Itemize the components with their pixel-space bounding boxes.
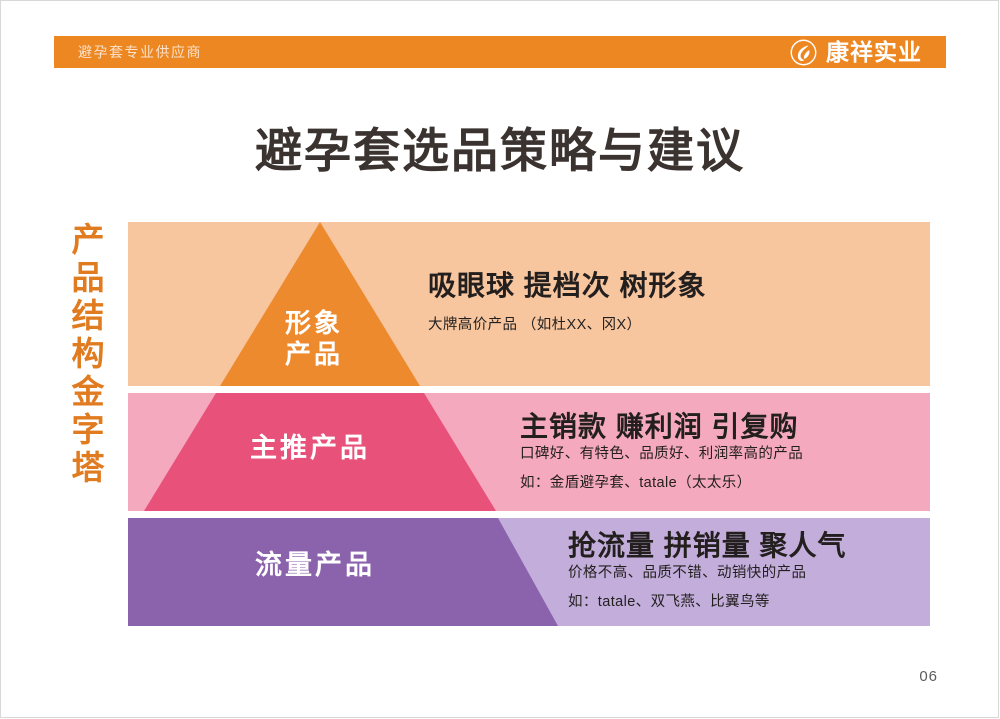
tier-headline: 主销款 赚利润 引复购: [520, 411, 803, 443]
tier-headline: 抢流量 拼销量 聚人气: [568, 530, 847, 562]
header-tagline: 避孕套专业供应商: [78, 42, 202, 62]
side-caption: 产品结构金字塔: [62, 222, 106, 488]
tier-label: 形象 产品: [260, 308, 368, 369]
slide-canvas: 避孕套专业供应商 康祥实业 避孕套选品策略与建议 产品结构金字塔 形象 产品 吸…: [0, 0, 1000, 719]
tier-sub-line: 大牌高价产品 （如杜XX、冈X）: [428, 314, 707, 336]
tier-label: 主推产品: [200, 433, 420, 465]
tier-label: 流量产品: [190, 550, 440, 582]
brand-name: 康祥实业: [826, 39, 922, 66]
pyramid-tier-image-products: 形象 产品 吸眼球 提档次 树形象 大牌高价产品 （如杜XX、冈X）: [128, 222, 930, 386]
tier-body: 抢流量 拼销量 聚人气 价格不高、品质不错、动销快的产品 如：tatale、双飞…: [568, 530, 847, 613]
tier-body: 吸眼球 提档次 树形象 大牌高价产品 （如杜XX、冈X）: [428, 270, 707, 337]
page-number: 06: [919, 668, 938, 685]
tier-headline: 吸眼球 提档次 树形象: [428, 270, 707, 302]
swirl-leaf-logo-icon: [790, 39, 817, 66]
brand-block: 康祥实业: [790, 38, 922, 66]
page-title: 避孕套选品策略与建议: [0, 112, 1000, 181]
tier-sub-line: 如：金盾避孕套、tatale（太太乐）: [520, 472, 803, 494]
tier-sub-line: 价格不高、品质不错、动销快的产品: [568, 562, 847, 584]
tier-sub-line: 如：tatale、双飞燕、比翼鸟等: [568, 591, 847, 613]
tier-sub-line: 口碑好、有特色、品质好、利润率高的产品: [520, 443, 803, 465]
pyramid-tier-main-products: 主推产品 主销款 赚利润 引复购 口碑好、有特色、品质好、利润率高的产品 如：金…: [128, 393, 930, 511]
product-structure-pyramid: 形象 产品 吸眼球 提档次 树形象 大牌高价产品 （如杜XX、冈X） 主推产品 …: [128, 222, 930, 626]
pyramid-tier-traffic-products: 流量产品 抢流量 拼销量 聚人气 价格不高、品质不错、动销快的产品 如：tata…: [128, 518, 930, 626]
tier-body: 主销款 赚利润 引复购 口碑好、有特色、品质好、利润率高的产品 如：金盾避孕套、…: [520, 411, 803, 494]
